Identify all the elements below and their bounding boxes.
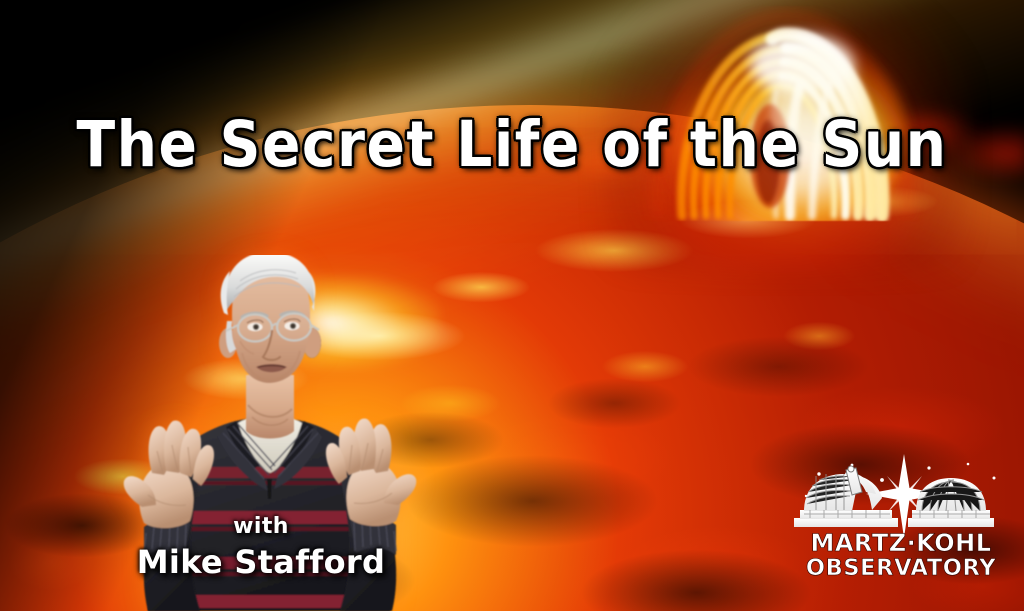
logo-line-2: OBSERVATORY xyxy=(806,555,996,581)
observatory-logo[interactable]: MARTZ·KOHL OBSERVATORY xyxy=(786,452,1016,582)
speaker-name: Mike Stafford xyxy=(96,546,426,578)
page-title: The Secret Life of the Sun xyxy=(0,108,1024,181)
logo-line-1: MARTZ·KOHL xyxy=(810,529,991,557)
speaker-credit: with Mike Stafford xyxy=(96,516,426,578)
event-poster: The Secret Life of the Sun An Introducti… xyxy=(0,0,1024,611)
with-label: with xyxy=(96,516,426,538)
closed-observatory-dome-icon xyxy=(908,478,994,527)
